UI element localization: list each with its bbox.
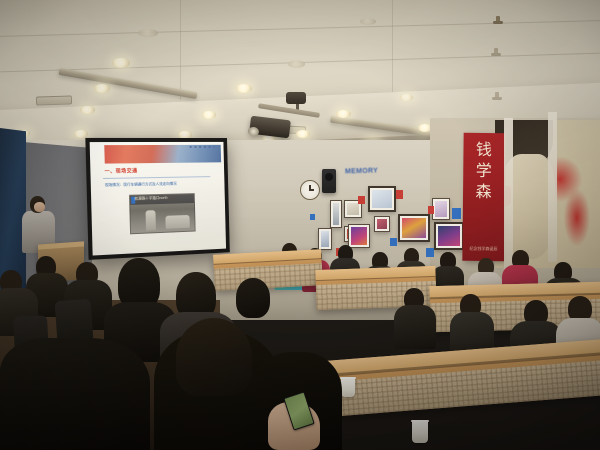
wall-speaker-icon xyxy=(322,169,336,193)
slide-banner-pattern xyxy=(189,146,214,147)
ceiling-downlight xyxy=(80,106,95,114)
wall-square xyxy=(310,214,315,220)
wall-square xyxy=(390,238,397,246)
qian-xuesen-banner: 钱 学 森 纪念钱学森诞辰 xyxy=(462,133,505,261)
ceiling-downlight xyxy=(138,29,158,37)
projection-screen-surface: 一、现场交通 现场情况：现行车辆通行方式及人流走向情况 航源路十字路口north xyxy=(90,142,226,256)
wall-frame-art xyxy=(333,203,339,225)
slide-body-text: 现场情况：现行车辆通行方式及人流走向情况 xyxy=(105,181,177,188)
wall-frame xyxy=(432,198,450,220)
wall-frame-art xyxy=(347,203,359,215)
banner-subtitle: 纪念钱学森诞辰 xyxy=(468,246,498,251)
projection-screen: 一、现场交通 现场情况：现行车辆通行方式及人流走向情况 航源路十字路口north xyxy=(85,138,229,260)
ceiling-downlight xyxy=(296,130,310,138)
wall-frame xyxy=(374,216,390,232)
slide-divider xyxy=(103,176,210,179)
ceiling-vent xyxy=(36,95,72,105)
slide-header-banner xyxy=(104,145,222,163)
slide-video-title: 航源路十字路口north xyxy=(134,196,167,202)
wall-clock-icon xyxy=(300,180,320,200)
ceiling-downlight xyxy=(400,94,413,101)
wall-frame-art xyxy=(377,219,387,229)
projector-ceiling-mount-head xyxy=(286,92,306,104)
wall-square xyxy=(452,208,461,219)
lecture-room-photo: 一、现场交通 现场情况：现行车辆通行方式及人流走向情况 航源路十字路口north… xyxy=(0,0,600,450)
banner-hanging-strip xyxy=(504,118,513,273)
wall-frame xyxy=(318,228,332,250)
paper-cup[interactable] xyxy=(341,377,355,397)
desk-row xyxy=(213,249,323,291)
sprinkler-head xyxy=(494,48,498,55)
wall-frame xyxy=(434,222,464,250)
wall-frame-art xyxy=(372,190,392,208)
wall-frame-art xyxy=(438,226,460,246)
wall-square xyxy=(426,248,434,257)
banner-hanging-strip xyxy=(548,112,557,262)
wall-square xyxy=(428,206,434,214)
wall-frame-art xyxy=(402,218,426,238)
wall-frame-art xyxy=(351,227,367,245)
memory-wall-label: MEMORY xyxy=(345,168,378,176)
wall-frame-art xyxy=(435,201,447,217)
ceiling-downlight xyxy=(236,84,252,93)
ceiling-panel-line xyxy=(180,0,181,100)
ceiling-downlight xyxy=(202,111,216,119)
wall-frame xyxy=(348,224,370,248)
attendee-head xyxy=(236,278,270,318)
ceiling-downlight xyxy=(74,130,88,138)
slide-embedded-video: 航源路十字路口north xyxy=(129,193,196,235)
ceiling-downlight xyxy=(288,60,305,68)
banner-character-3: 森 xyxy=(463,181,505,202)
ceiling-downlight xyxy=(94,84,110,93)
chair[interactable] xyxy=(55,299,94,343)
sprinkler-head xyxy=(495,92,499,99)
slide-heading: 一、现场交通 xyxy=(104,168,137,176)
foreground-person xyxy=(0,338,150,450)
wall-frame xyxy=(330,200,342,228)
foreground-person-head xyxy=(176,318,252,396)
wall-square xyxy=(358,196,365,204)
sprinkler-head xyxy=(496,16,500,23)
slide-video-figure xyxy=(146,211,156,231)
paper-cup[interactable] xyxy=(412,420,428,443)
light-track xyxy=(58,68,197,99)
attendee-body xyxy=(394,305,436,349)
presenter-face xyxy=(34,202,45,212)
banner-character-2: 学 xyxy=(463,160,505,181)
wall-square xyxy=(396,190,403,199)
slide-video-vehicle xyxy=(165,215,189,229)
ceiling-downlight xyxy=(336,110,351,118)
ceiling-panel-line xyxy=(0,20,600,37)
ceiling-downlight xyxy=(112,58,130,68)
ceiling-panel-line xyxy=(392,0,393,96)
wall-frame xyxy=(398,214,430,242)
ceiling-downlight xyxy=(360,18,376,25)
wall-frame xyxy=(368,186,396,212)
wall-frame-art xyxy=(321,231,329,247)
banner-character-1: 钱 xyxy=(463,139,505,160)
